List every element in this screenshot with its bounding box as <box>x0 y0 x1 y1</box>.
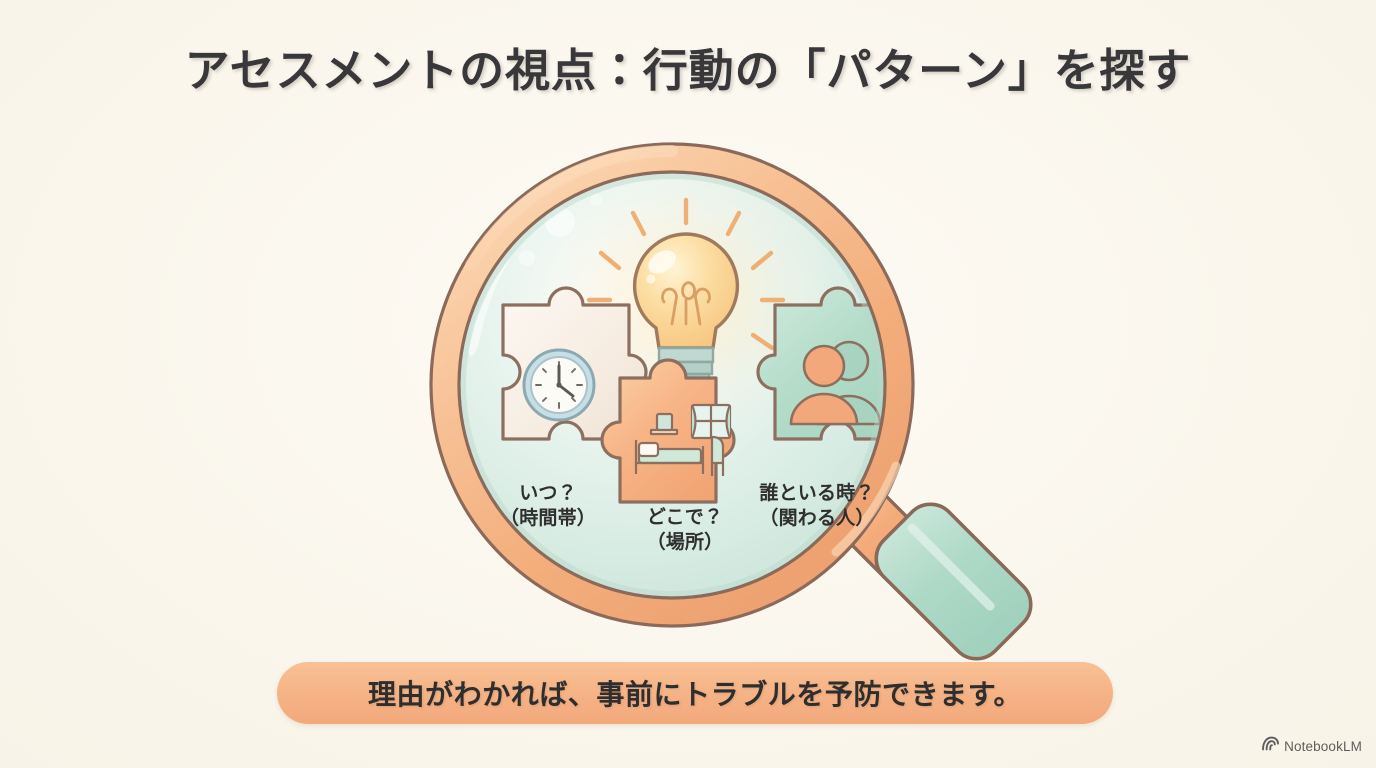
clock-icon <box>524 350 594 420</box>
notebooklm-label: NotebookLM <box>1284 739 1362 754</box>
puzzle-label-when: いつ？ （時間帯） <box>488 481 608 531</box>
puzzle-piece-where <box>602 360 734 502</box>
magnifier-illustration <box>0 0 1376 768</box>
puzzle-label-who: 誰といる時？ （関わる人） <box>742 481 892 531</box>
slide-canvas: アセスメントの視点：行動の「パターン」を探す <box>0 0 1376 768</box>
puzzle-label-who-question: 誰といる時？ <box>759 483 874 504</box>
puzzle-piece-who <box>758 288 918 439</box>
puzzle-piece-when <box>503 288 646 439</box>
page-title: アセスメントの視点：行動の「パターン」を探す <box>0 34 1376 99</box>
notebooklm-logo-icon <box>1262 736 1279 756</box>
lightbulb-icon <box>589 200 783 398</box>
puzzle-label-when-question: いつ？ <box>519 483 577 504</box>
bedroom-icon <box>636 405 730 476</box>
puzzle-label-where-question: どこで？ <box>647 507 723 528</box>
notebooklm-watermark: NotebookLM <box>1262 736 1362 756</box>
summary-banner: 理由がわかれば、事前にトラブルを予防できます。 <box>277 662 1113 724</box>
summary-banner-text: 理由がわかれば、事前にトラブルを予防できます。 <box>368 673 1022 713</box>
puzzle-label-where: どこで？ （場所） <box>620 505 750 555</box>
puzzle-label-when-detail: （時間帯） <box>488 506 608 531</box>
people-icon <box>791 342 880 424</box>
puzzle-label-who-detail: （関わる人） <box>742 506 892 531</box>
puzzle-label-where-detail: （場所） <box>620 530 750 555</box>
